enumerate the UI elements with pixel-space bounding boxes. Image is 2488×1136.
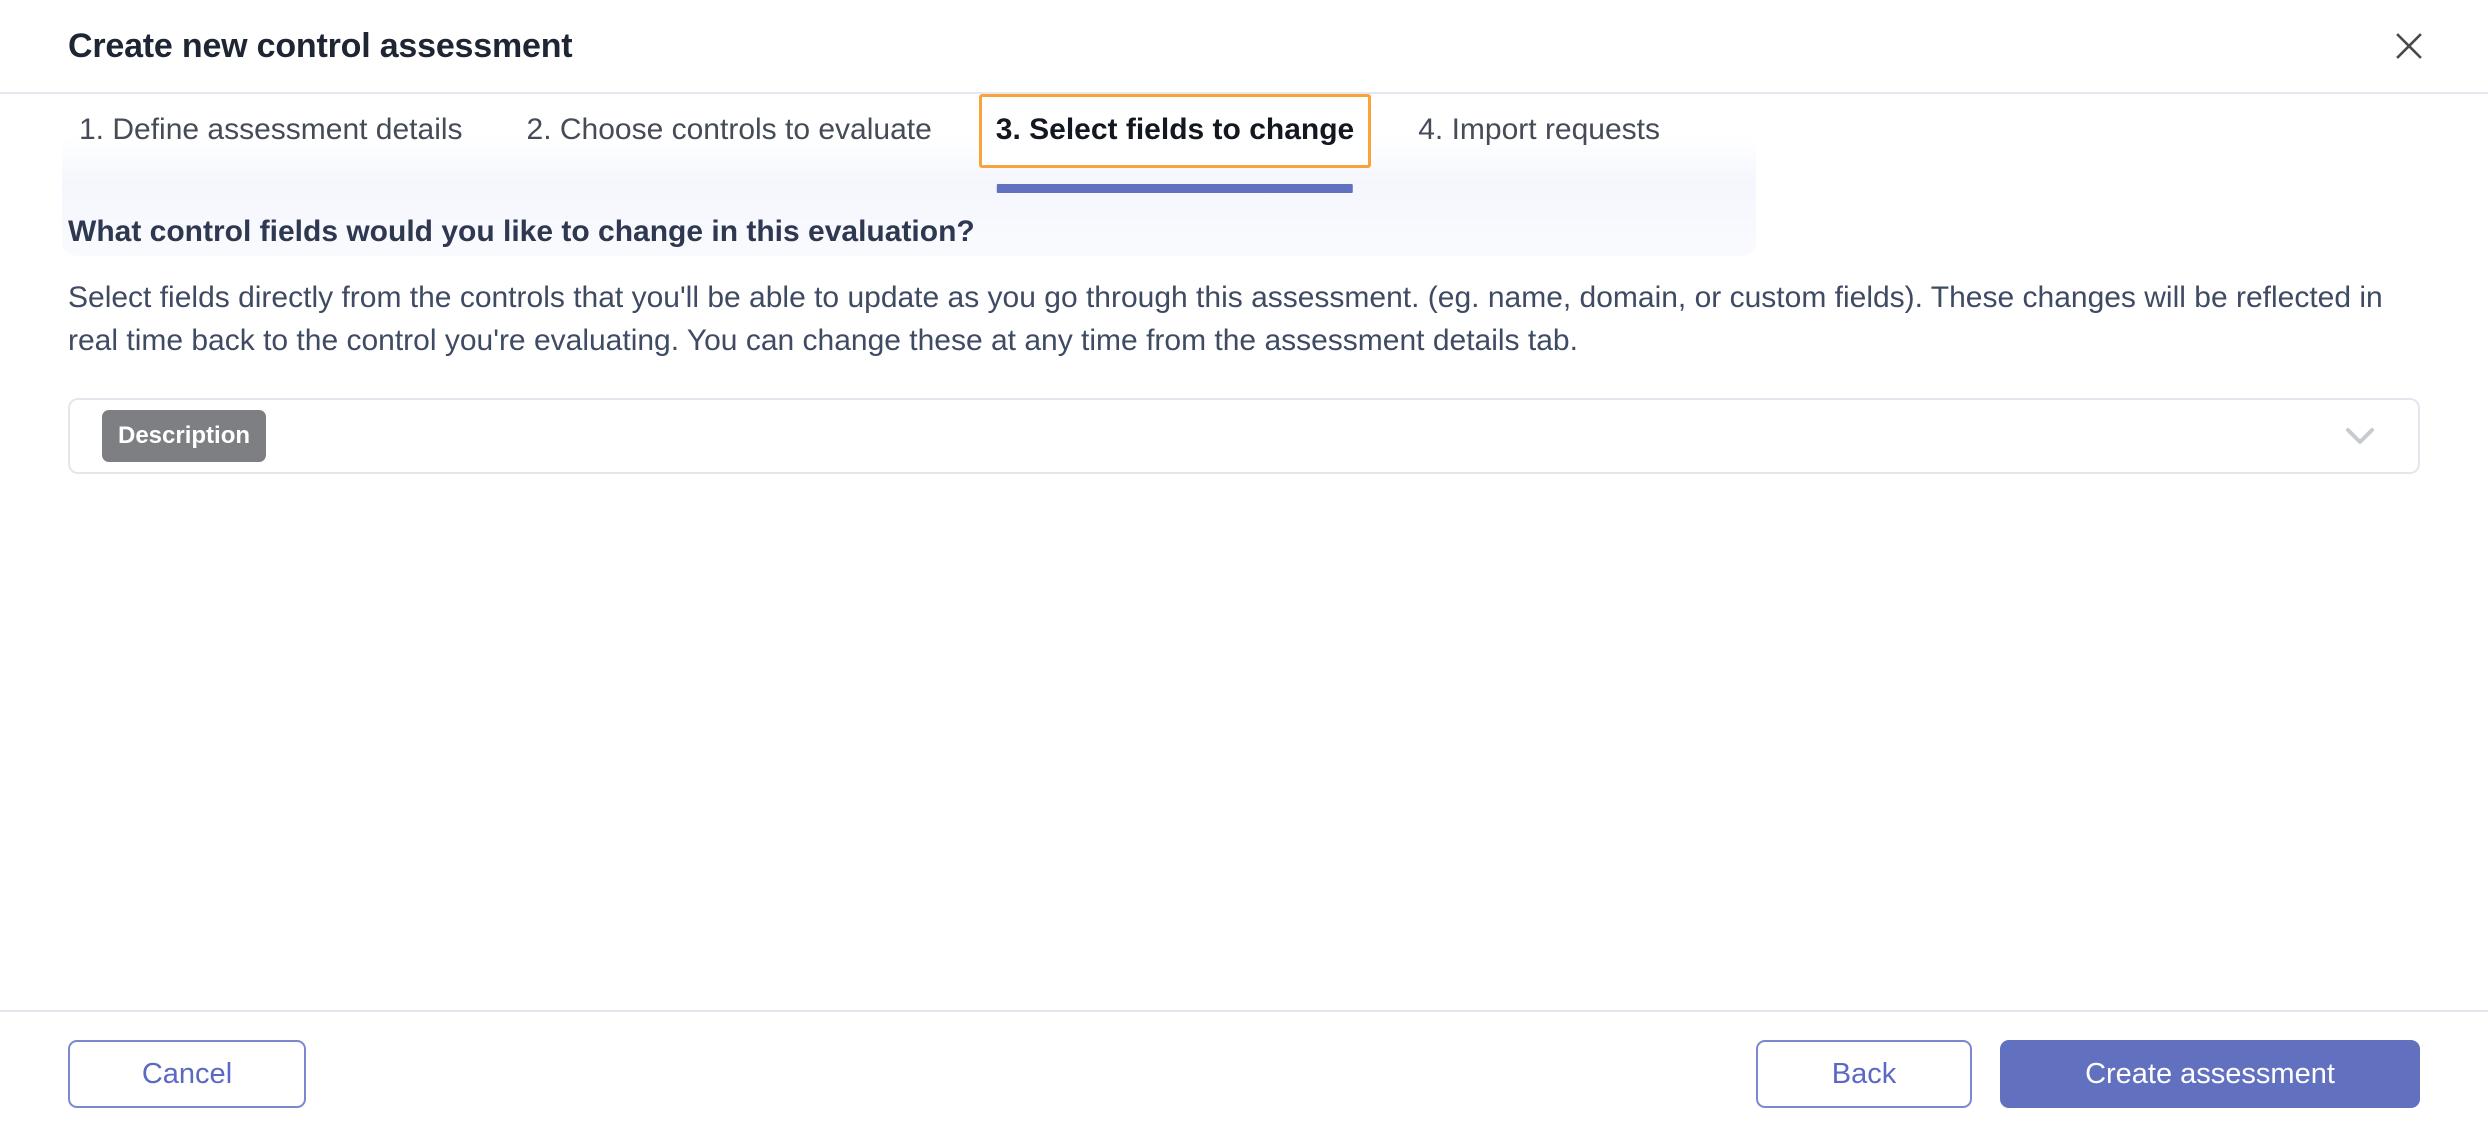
selected-chips: Description — [102, 410, 2336, 462]
tab-label: 1. Define assessment details — [79, 113, 463, 146]
wizard-steps: 1. Define assessment details 2. Choose c… — [0, 94, 2488, 190]
footer-actions: Back Create assessment — [1756, 1040, 2420, 1108]
tab-label: 2. Choose controls to evaluate — [527, 113, 932, 146]
tab-choose-controls-to-evaluate[interactable]: 2. Choose controls to evaluate — [510, 94, 949, 168]
section-description: Select fields directly from the controls… — [68, 277, 2408, 362]
create-assessment-button[interactable]: Create assessment — [2000, 1040, 2420, 1108]
modal-header: Create new control assessment — [0, 0, 2488, 94]
create-assessment-modal: Create new control assessment 1. Define … — [0, 0, 2488, 1136]
modal-body: What control fields would you like to ch… — [0, 190, 2488, 1010]
close-button[interactable] — [2384, 21, 2434, 71]
tab-select-fields-to-change[interactable]: 3. Select fields to change — [979, 94, 1371, 168]
page-title: Create new control assessment — [68, 26, 572, 67]
tab-import-requests[interactable]: 4. Import requests — [1401, 94, 1677, 168]
active-tab-indicator — [997, 184, 1353, 193]
tab-define-assessment-details[interactable]: 1. Define assessment details — [62, 94, 480, 168]
tab-list: 1. Define assessment details 2. Choose c… — [0, 94, 2488, 168]
cancel-button[interactable]: Cancel — [68, 1040, 306, 1108]
tab-label: 4. Import requests — [1418, 113, 1660, 146]
tab-label: 3. Select fields to change — [996, 113, 1354, 146]
fields-to-change-select[interactable]: Description — [68, 398, 2420, 474]
close-icon — [2394, 31, 2424, 61]
chevron-down-icon[interactable] — [2336, 412, 2384, 460]
back-button[interactable]: Back — [1756, 1040, 1972, 1108]
modal-footer: Cancel Back Create assessment — [0, 1010, 2488, 1136]
chip-description[interactable]: Description — [102, 410, 266, 462]
section-question: What control fields would you like to ch… — [68, 212, 2420, 251]
